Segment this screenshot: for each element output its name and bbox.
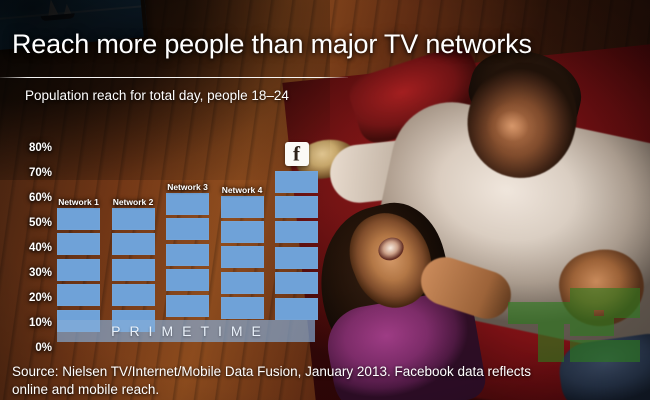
bar-segment	[112, 284, 155, 306]
bar-segment	[275, 196, 318, 218]
bar-segment	[221, 246, 264, 268]
bar-label-network-1: Network 1	[58, 197, 99, 207]
y-axis-tick-label: 50%	[8, 217, 52, 229]
bar-segment	[221, 196, 264, 218]
bar-segment	[166, 193, 209, 215]
y-axis-tick-label: 80%	[8, 142, 52, 154]
facebook-logo-glyph: f	[285, 143, 309, 164]
bar-segment	[275, 221, 318, 243]
bar-segment	[221, 272, 264, 294]
bar-segment	[166, 218, 209, 240]
bar-segment	[221, 297, 264, 319]
y-axis-tick-label: 10%	[8, 317, 52, 329]
bar-segment	[221, 221, 264, 243]
primetime-band: PRIMETIME	[57, 320, 315, 342]
bar-segment	[57, 259, 100, 281]
facebook-logo-icon: f	[285, 142, 309, 166]
bar-segment	[275, 171, 318, 193]
bar-segment	[166, 244, 209, 266]
footer: Source: Nielsen TV/Internet/Mobile Data …	[0, 360, 650, 400]
y-axis-tick-label: 0%	[8, 342, 52, 354]
y-axis: 80%70%60%50%40%30%20%10%0%	[0, 0, 52, 400]
bar-chart: 80%70%60%50%40%30%20%10%0% Network 1Netw…	[0, 0, 340, 400]
y-axis-tick-label: 30%	[8, 267, 52, 279]
source-text-line-2: online and mobile reach.	[12, 382, 159, 397]
bar-segment	[112, 259, 155, 281]
y-axis-tick-label: 60%	[8, 192, 52, 204]
bar-segment	[57, 284, 100, 306]
bar-segment	[275, 298, 318, 320]
bar-segment	[57, 233, 100, 255]
bar-segment	[166, 295, 209, 317]
bar-segment	[57, 208, 100, 230]
infographic-canvas: Reach more people than major TV networks…	[0, 0, 650, 400]
bar-segment	[275, 247, 318, 269]
bar-segment	[275, 272, 318, 294]
bar-segment	[112, 233, 155, 255]
y-axis-tick-label: 40%	[8, 242, 52, 254]
y-axis-tick-label: 20%	[8, 292, 52, 304]
bar-label-network-4: Network 4	[222, 185, 263, 195]
source-text-line-1: Source: Nielsen TV/Internet/Mobile Data …	[12, 364, 531, 379]
bar-segment	[112, 208, 155, 230]
techcrunch-watermark-icon	[508, 288, 640, 362]
bar-label-network-3: Network 3	[167, 182, 208, 192]
bar-label-network-2: Network 2	[113, 197, 154, 207]
primetime-label: PRIMETIME	[102, 323, 270, 339]
y-axis-tick-label: 70%	[8, 167, 52, 179]
bar-segment	[166, 269, 209, 291]
